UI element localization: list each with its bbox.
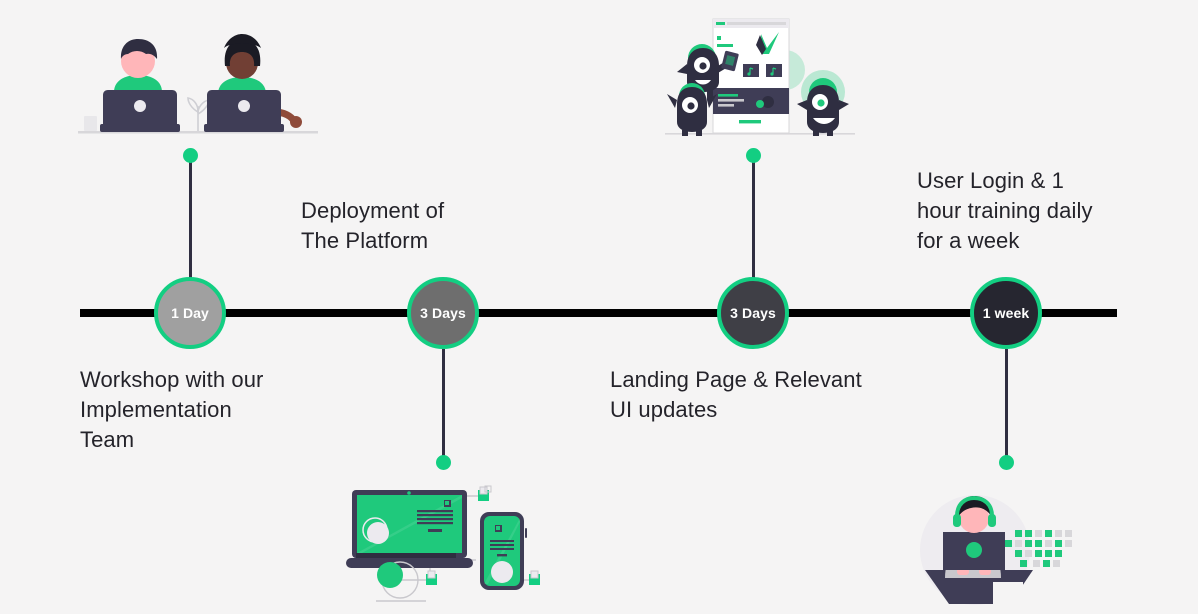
milestone-caption-landing-page: Landing Page & Relevant UI updates [610,365,940,425]
monsters-at-webpage-icon [665,14,855,138]
milestone-stem-dot-deployment [436,455,451,470]
milestone-stem-landing-page [752,158,755,278]
milestone-node-user-login[interactable]: 1 week [970,277,1042,349]
milestone-badge-label: 3 Days [730,306,776,320]
milestone-badge-label: 1 Day [171,306,209,320]
milestone-stem-dot-workshop [183,148,198,163]
milestone-stem-deployment [442,349,445,461]
person-with-headset-at-laptop-icon [915,492,1080,610]
timeline-rail [80,309,1117,317]
two-people-at-laptops-icon [78,28,318,138]
milestone-stem-workshop [189,158,192,278]
milestone-badge-label: 1 week [983,306,1030,320]
milestone-caption-workshop: Workshop with our Implementation Team [80,365,380,455]
milestone-node-landing-page[interactable]: 3 Days [717,277,789,349]
milestone-caption-user-login: User Login & 1 hour training daily for a… [917,166,1167,256]
milestone-node-workshop[interactable]: 1 Day [154,277,226,349]
milestone-badge-label: 3 Days [420,306,466,320]
milestone-stem-user-login [1005,349,1008,461]
milestone-caption-deployment: Deployment of The Platform [301,196,561,256]
milestone-node-deployment[interactable]: 3 Days [407,277,479,349]
laptop-and-phone-icon [340,484,555,609]
milestone-stem-dot-landing-page [746,148,761,163]
timeline-canvas: 1 Day Workshop with our Implementation T… [0,0,1198,614]
milestone-stem-dot-user-login [999,455,1014,470]
